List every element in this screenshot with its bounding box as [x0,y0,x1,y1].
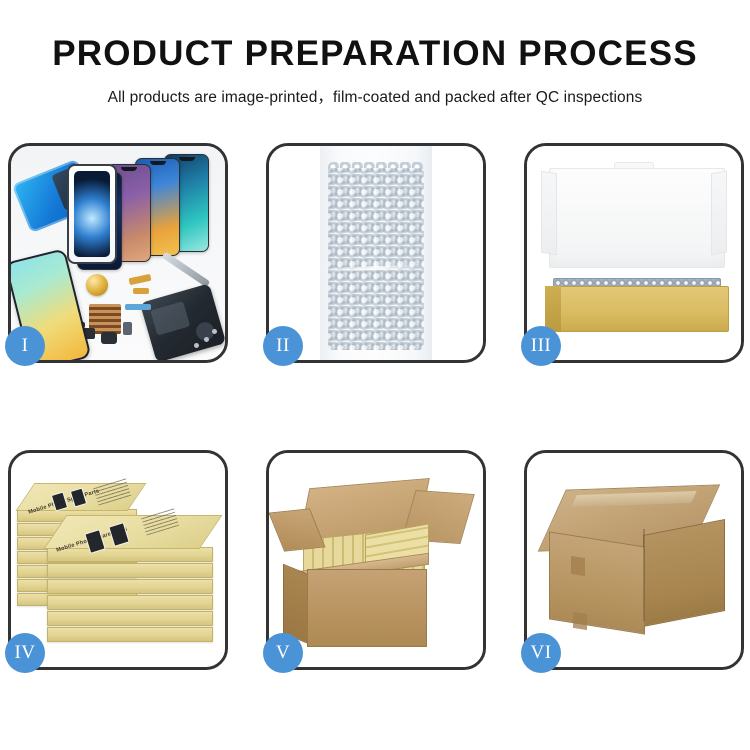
tempered-glass-screen [67,164,117,264]
notch-icon [121,167,137,171]
carton-front-panel [549,531,645,634]
page-title: PRODUCT PREPARATION PROCESS [0,36,750,73]
step-badge-4: IV [5,633,45,673]
screw-icon [194,343,199,348]
step-panel-3: III [524,143,744,363]
kraft-box-edge [47,563,213,578]
kraft-box-side [545,286,561,332]
step-badge-6: VI [521,633,561,673]
carton-front-panel [307,569,427,647]
step-panel-1: I [8,143,228,363]
process-steps-grid: I II III [8,143,742,670]
phone-back-plate [140,283,225,360]
kraft-box-stack: Mobile Phone Spare Parts Mobile Phone Sp… [11,453,225,667]
carton-handle-tab [573,612,587,630]
step-image-labeled-boxes: Mobile Phone Spare Parts Mobile Phone Sp… [11,453,225,667]
page-subtitle: All products are image-printed，film-coat… [0,85,750,107]
screw-icon [204,337,209,342]
step-badge-2: II [263,326,303,366]
step-badge-3: III [521,326,561,366]
carton-right-panel [643,519,725,627]
page-header: PRODUCT PREPARATION PROCESS All products… [0,0,750,107]
kraft-box-edge [47,611,213,626]
speaker-coil-icon [86,274,108,296]
box-lid-panel [549,168,725,268]
notch-icon [179,157,195,161]
step-image-sealed-carton [527,453,741,667]
kraft-box-edge [47,627,213,642]
carton-side-panel [283,564,309,645]
step-badge-1: I [5,326,45,366]
step-badge-5: V [263,633,303,673]
flex-cable-icon [125,304,151,310]
step-panel-5: V [266,450,486,670]
bubble-wrap-pattern-overlay [328,168,424,350]
kraft-box-edge [47,595,213,610]
step-image-carton-filling [269,453,483,667]
step-panel-4: Mobile Phone Spare Parts Mobile Phone Sp… [8,450,228,670]
screw-icon [212,329,217,334]
step-image-bubble-wrap [269,146,483,360]
box-lid-flap-right [711,171,727,256]
camera-module-icon [101,332,117,344]
battery-connector-icon [123,322,132,335]
step-image-inner-box [527,146,741,360]
notch-icon [150,161,166,165]
kraft-box-body [545,286,729,332]
step-image-product-parts [11,146,225,360]
carton-handle-tab [571,556,585,576]
carton-corner-seam [643,529,645,621]
box-lid-flap-left [541,171,557,256]
flex-cable-icon [133,288,149,294]
flex-cable-icon [129,274,152,285]
step-panel-2: II [266,143,486,363]
step-panel-6: VI [524,450,744,670]
kraft-box-edge [47,579,213,594]
